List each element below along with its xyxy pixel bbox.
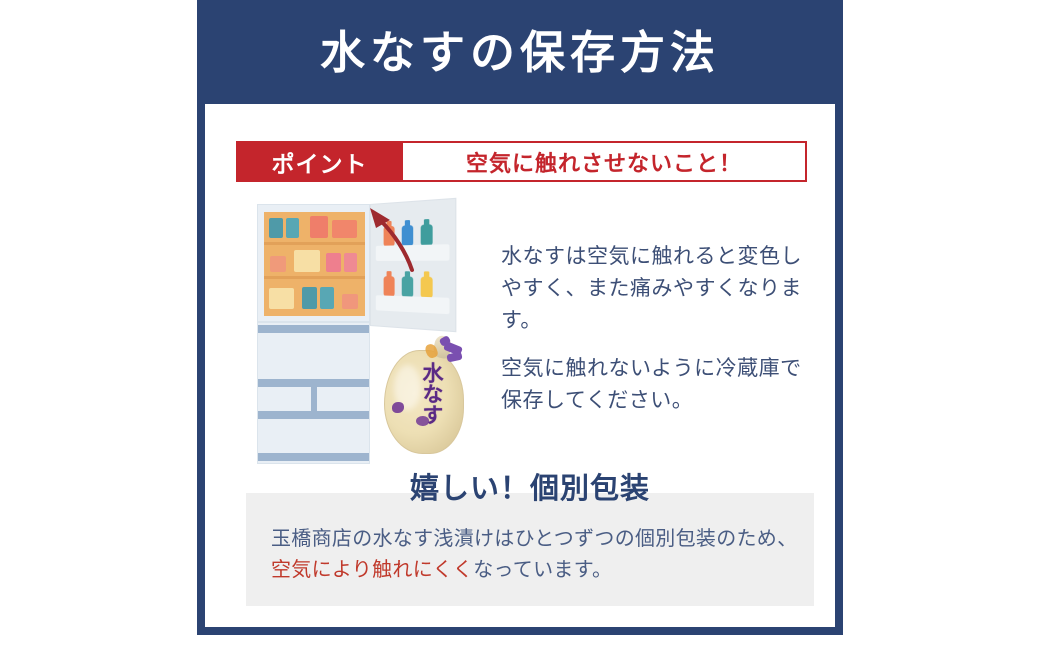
header-bar: 水なすの保存方法: [197, 0, 843, 104]
food-item: [326, 253, 341, 272]
body-paragraph-1: 水なすは空気に触れると変色しやすく、また痛みやすくなります。: [501, 241, 821, 337]
package-stamp: [392, 402, 404, 413]
food-item: [342, 294, 358, 309]
package-ribbon: [446, 352, 462, 363]
content-panel: ポイント 空気に触れさせないこと！: [205, 104, 835, 627]
bottle-icon: [421, 277, 433, 299]
individual-packaging-text: 玉橋商店の水なす浅漬けはひとつずつの個別包装のため、空気により触れにくくなってい…: [271, 524, 801, 586]
individual-packaging-heading: 嬉しい！個別包装: [246, 470, 814, 508]
package-stamp: [416, 416, 429, 426]
mizunasu-package: 水なす: [378, 328, 470, 456]
body-copy: 水なすは空気に触れると変色しやすく、また痛みやすくなります。 空気に触れないよう…: [501, 241, 821, 417]
food-item: [344, 253, 357, 272]
fridge-shelf-row-1: [264, 212, 365, 245]
fridge-shelf-row-2: [264, 246, 365, 279]
fridge-drawer-divider: [311, 387, 317, 411]
fridge-upper-compartment: [257, 204, 370, 322]
packaging-text-part2: なっています。: [473, 559, 612, 581]
refrigerator-illustration: [257, 204, 372, 464]
navy-frame: 水なすの保存方法 ポイント 空気に触れさせないこと！: [197, 0, 843, 635]
fridge-handle-bar: [258, 411, 369, 419]
packaging-text-part1: 玉橋商店の水なす浅漬けはひとつずつの個別包装のため、: [271, 528, 797, 550]
food-item: [332, 220, 357, 238]
poster-page: 水なすの保存方法 ポイント 空気に触れさせないこと！: [0, 0, 1040, 646]
food-item: [269, 218, 283, 238]
page-title: 水なすの保存方法: [320, 30, 720, 75]
point-banner: ポイント 空気に触れさせないこと！: [236, 141, 807, 182]
point-banner-label: ポイント: [236, 141, 403, 182]
curved-arrow-icon: [360, 200, 440, 275]
package-tie: [422, 334, 462, 368]
food-item: [310, 216, 328, 238]
food-item: [270, 256, 286, 272]
body-paragraph-2: 空気に触れないように冷蔵庫で保存してください。: [501, 353, 821, 417]
fridge-illustration-group: 水なす: [250, 200, 505, 470]
food-item: [294, 250, 320, 272]
point-banner-value: 空気に触れさせないこと！: [403, 141, 807, 182]
bottle-icon: [384, 276, 395, 297]
door-shelf: [376, 295, 450, 314]
food-item: [286, 218, 299, 238]
food-item: [302, 287, 317, 309]
fridge-shelf-row-3: [264, 280, 365, 313]
fridge-handle-bar: [258, 325, 369, 333]
fridge-interior-shelves: [264, 212, 365, 316]
fridge-handle-bar: [258, 453, 369, 461]
bottle-icon: [402, 276, 413, 297]
food-item: [269, 288, 294, 309]
food-item: [320, 287, 334, 309]
fridge-lower-compartment: [257, 322, 370, 464]
fridge-handle-bar: [258, 379, 369, 387]
packaging-text-highlight: 空気により触れにくく: [271, 559, 473, 581]
